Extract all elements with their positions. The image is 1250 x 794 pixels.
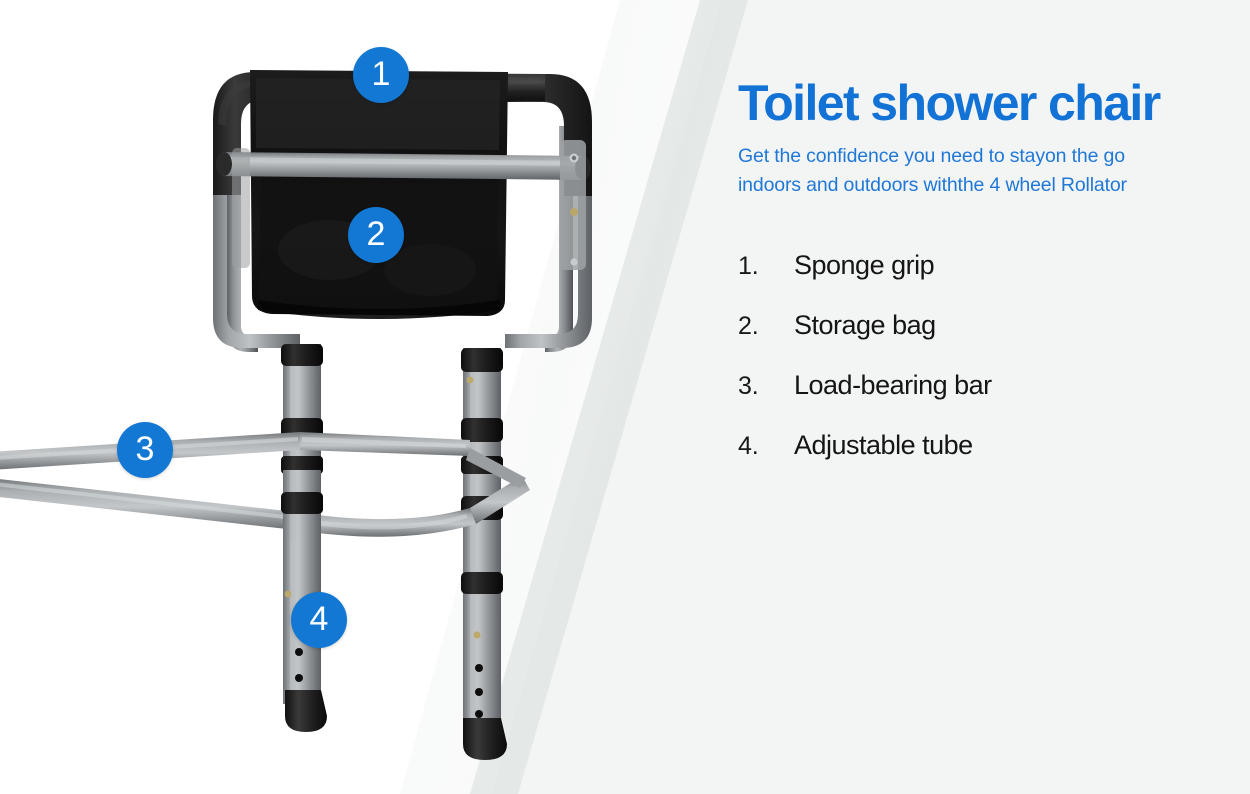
adjustment-collar (461, 572, 503, 594)
callout-badge-1-label: 1 (372, 57, 391, 91)
callout-badge-4-label: 4 (310, 602, 329, 636)
adjustment-collar (461, 418, 503, 442)
adjustment-collar (461, 348, 503, 372)
rubber-foot (463, 718, 507, 760)
feature-number-1: 1. (738, 252, 794, 281)
feature-label-1: Sponge grip (794, 250, 934, 281)
adjustment-collar (281, 344, 323, 366)
page-title: Toilet shower chair (738, 78, 1218, 128)
load-bearing-bar (0, 432, 470, 470)
feature-list-item-2: 2. Storage bag (738, 310, 1218, 341)
tube-overlap-left (281, 470, 323, 540)
infographic-canvas: 1 2 3 4 Toilet shower chair Get the conf… (0, 0, 1250, 794)
callout-badge-3-label: 3 (136, 432, 155, 466)
feature-number-4: 4. (738, 432, 794, 461)
page-subtitle: Get the confidence you need to stayon th… (738, 142, 1178, 200)
feature-list-item-4: 4. Adjustable tube (738, 430, 1218, 461)
cross-bar (216, 152, 591, 180)
feature-list-item-3: 3. Load-bearing bar (738, 370, 1218, 401)
rubber-foot (285, 690, 327, 732)
callout-badge-4[interactable]: 4 (291, 592, 347, 648)
callout-badge-1[interactable]: 1 (353, 47, 409, 103)
storage-bag (250, 70, 508, 319)
callout-badge-3[interactable]: 3 (117, 422, 173, 478)
callout-badge-2[interactable]: 2 (348, 207, 404, 263)
feature-number-2: 2. (738, 312, 794, 341)
callout-badge-2-label: 2 (367, 217, 386, 251)
content-column: Toilet shower chair Get the confidence y… (738, 78, 1218, 461)
product-image (0, 0, 700, 794)
feature-label-3: Load-bearing bar (794, 370, 992, 401)
feature-label-4: Adjustable tube (794, 430, 973, 461)
feature-list-item-1: 1. Sponge grip (738, 250, 1218, 281)
adjustable-tube-right (461, 348, 507, 760)
feature-number-3: 3. (738, 372, 794, 401)
feature-label-2: Storage bag (794, 310, 936, 341)
feature-list: 1. Sponge grip 2. Storage bag 3. Load-be… (738, 250, 1218, 461)
